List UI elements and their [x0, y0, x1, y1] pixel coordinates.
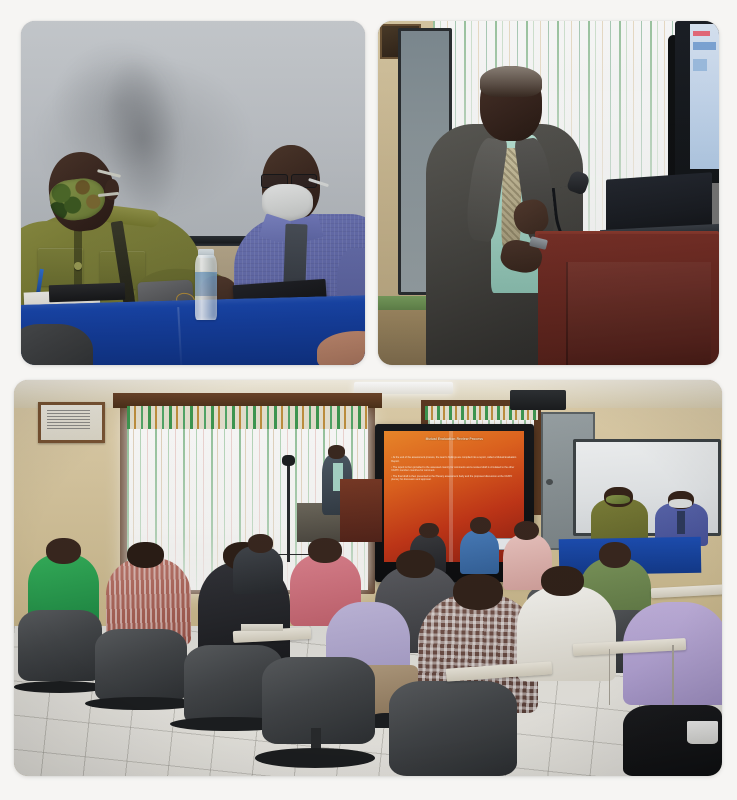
- photo-presenter-scene: [378, 21, 719, 365]
- curtain-valance: [127, 406, 368, 430]
- lectern-panel: [566, 262, 711, 365]
- slide-divider: [449, 431, 452, 562]
- bottle-label: [195, 272, 217, 296]
- slide-bullets: At the end of the assessment process, th…: [391, 456, 517, 484]
- ceiling-light: [354, 382, 453, 394]
- paper-cup: [687, 721, 719, 745]
- slide-title: Mutual Evaluation Review Process: [393, 438, 516, 442]
- monitor-ui-element: [693, 42, 715, 50]
- desk-leg: [672, 645, 674, 708]
- chair-base: [255, 748, 375, 768]
- plaque-text-lines: [47, 410, 91, 430]
- attendee-head: [599, 542, 632, 567]
- attendee-head: [541, 566, 583, 596]
- attendee-head: [419, 523, 439, 539]
- microphone-icon: [282, 455, 295, 465]
- photo-collage-page: Two seated officials at a blue-draped he…: [0, 0, 737, 800]
- monitor-ui-element: [693, 59, 707, 71]
- presenter-head: [328, 445, 345, 458]
- attendee-head: [248, 534, 273, 552]
- attendee-head: [308, 538, 342, 563]
- office-chair: [18, 610, 103, 681]
- photo-head-table-scene: [21, 21, 365, 365]
- photo-classroom[interactable]: Mutual Evaluation Review Process At the …: [14, 380, 722, 776]
- photo-head-table[interactable]: Two seated officials at a blue-draped he…: [21, 21, 365, 365]
- necktie: [677, 511, 685, 535]
- slide-bullet: At the end of the assessment process, th…: [391, 456, 517, 463]
- wooden-lectern: [340, 479, 382, 542]
- notebook: [48, 283, 124, 303]
- camouflage-face-mask: [606, 495, 630, 505]
- attendee-head: [470, 517, 491, 534]
- slide-bullet: The final draft is then presented to the…: [391, 475, 517, 482]
- attendee-head: [453, 574, 503, 610]
- attendee-dark-suit: [233, 546, 283, 594]
- presenter-hair: [480, 66, 541, 97]
- microphone-stand: [287, 459, 291, 562]
- attendee-head: [46, 538, 81, 564]
- attendee-blue-shirt: [460, 530, 499, 574]
- photo-classroom-scene: Mutual Evaluation Review Process At the …: [14, 380, 722, 776]
- office-chair: [389, 681, 516, 776]
- attendee-head: [127, 542, 164, 568]
- notepad: [241, 624, 283, 632]
- office-chair: [95, 629, 187, 700]
- attendee-head: [396, 550, 434, 578]
- air-conditioner: [510, 390, 567, 410]
- slide-bullet: The report is then provided to the asses…: [391, 466, 517, 473]
- desk-leg: [609, 649, 611, 704]
- monitor-ui-element: [693, 31, 710, 36]
- officer-ear: [105, 179, 119, 200]
- chair-base: [14, 681, 106, 693]
- photo-presenter[interactable]: Man in a grey suit speaking at a wooden …: [378, 21, 719, 365]
- surgical-face-mask: [669, 499, 692, 508]
